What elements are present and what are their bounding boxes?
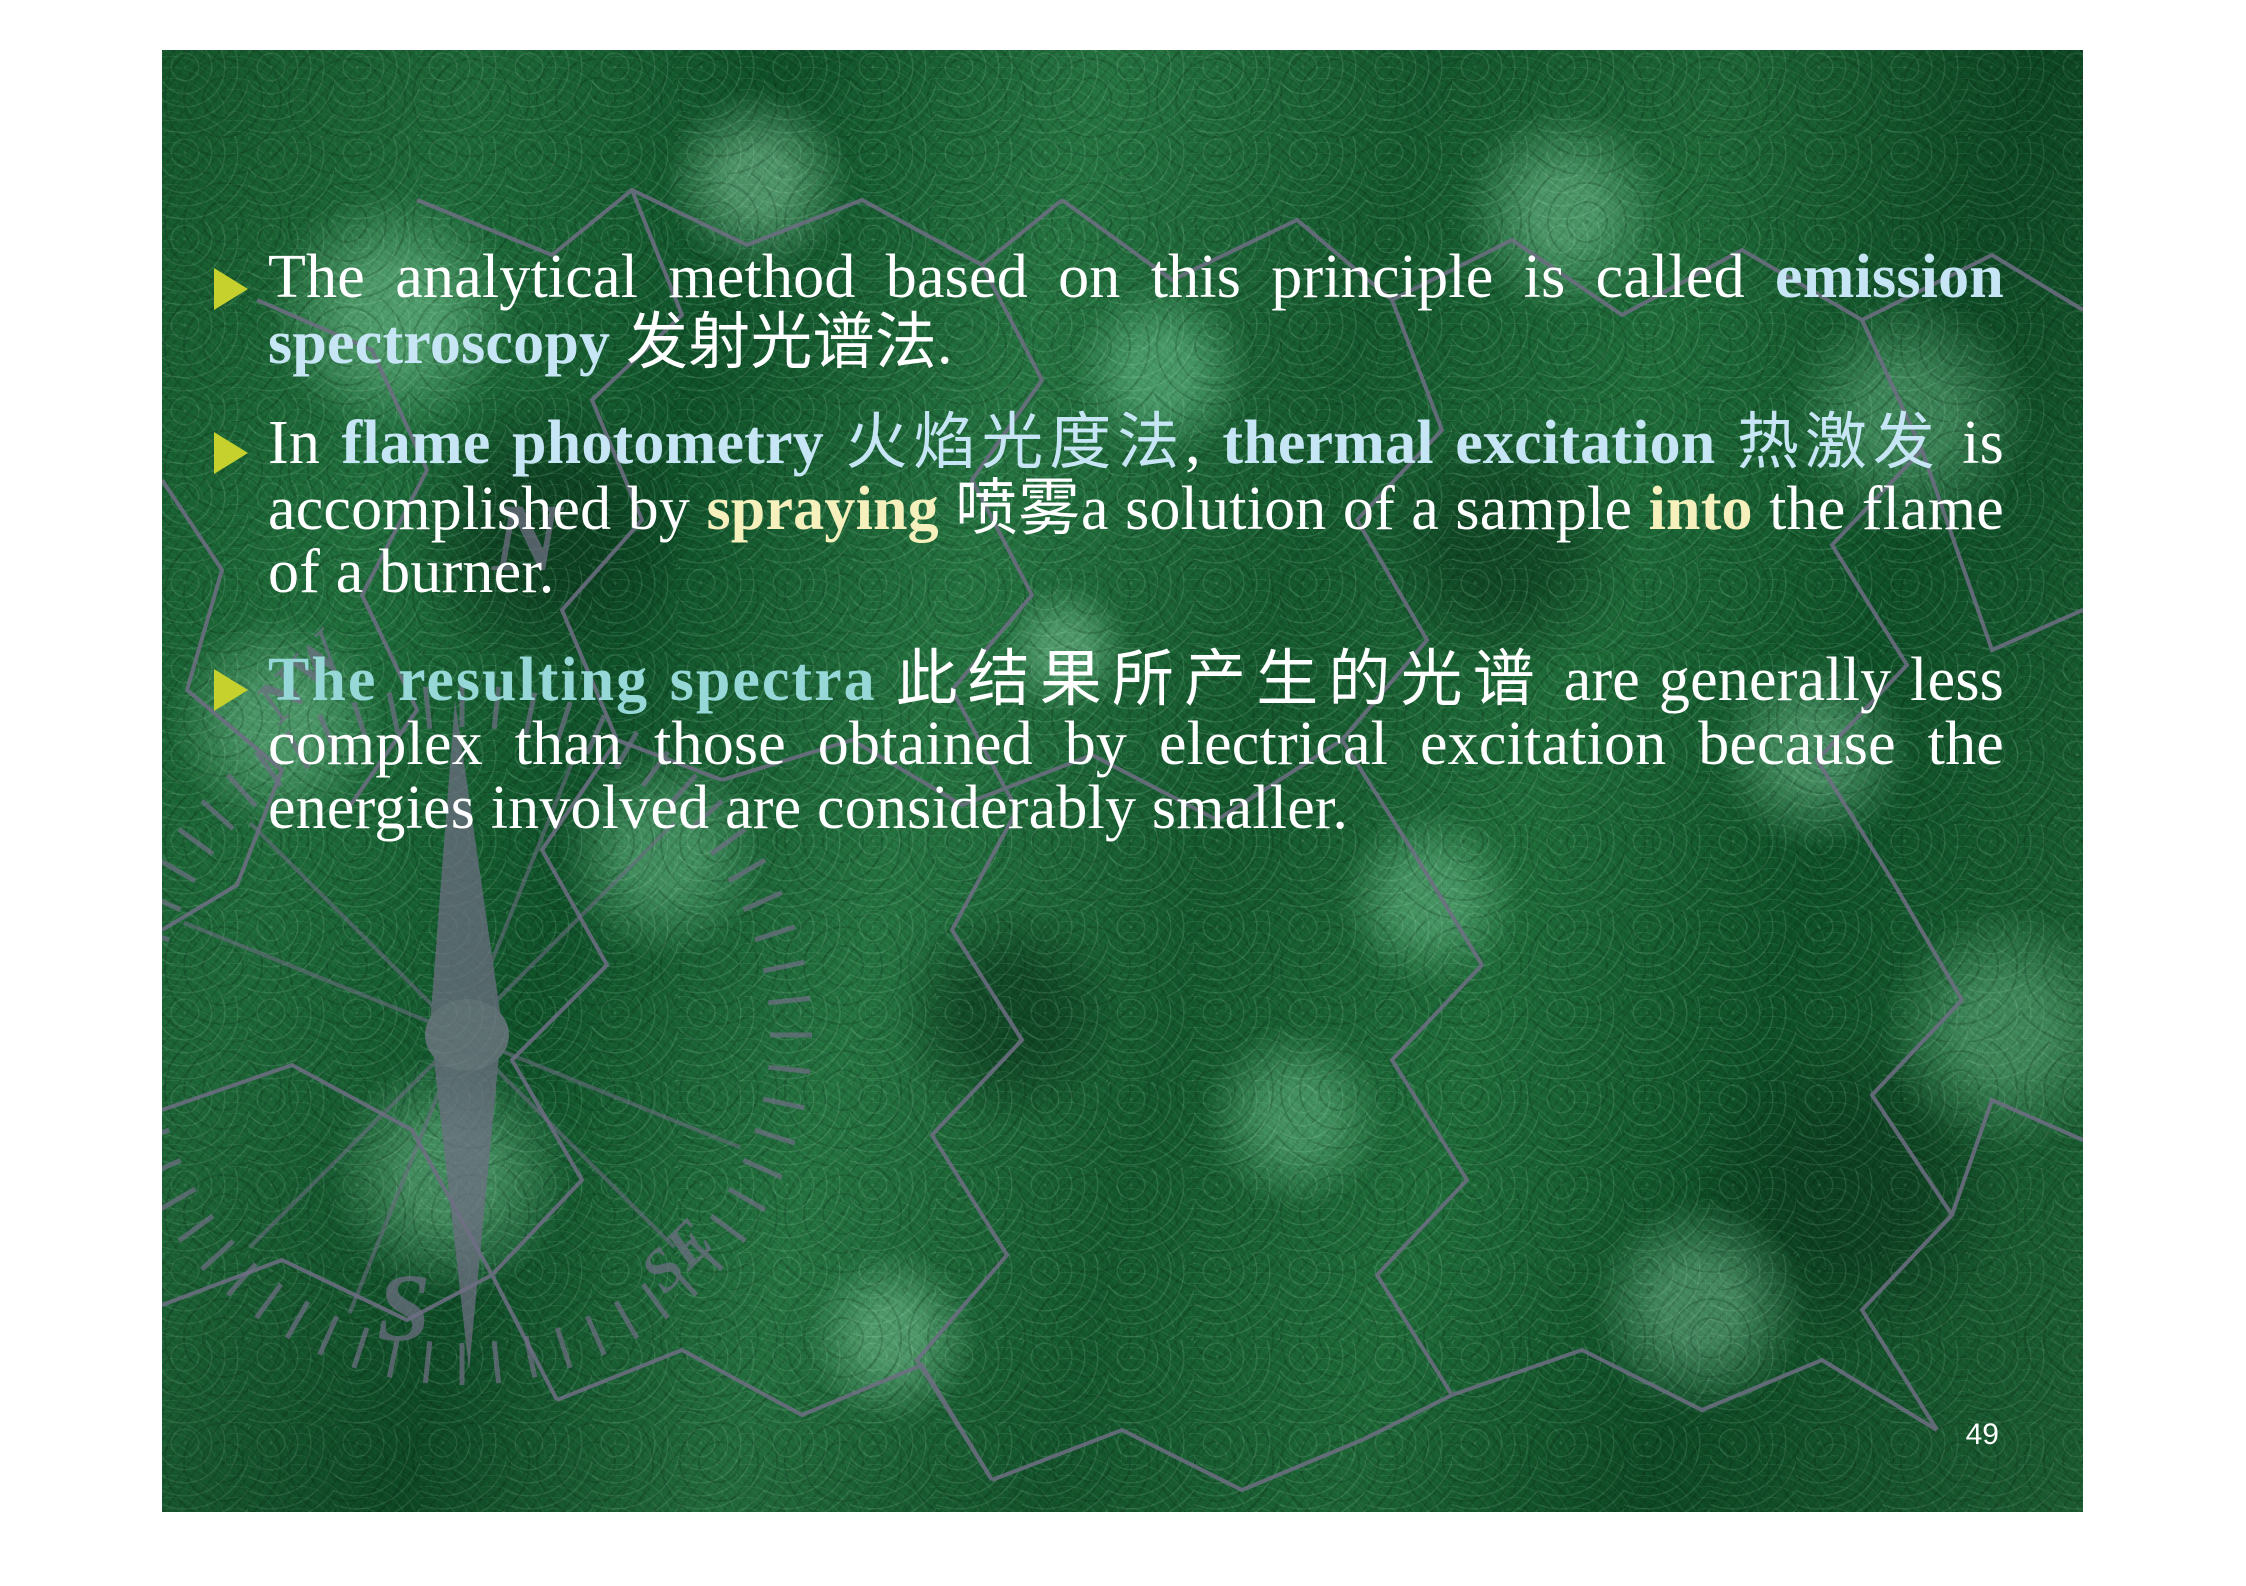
page-number: 49 <box>1966 1418 1999 1452</box>
bullet-3-line-4: considerably smaller. <box>817 774 1348 842</box>
bullet-text-1: The analytical method based on this prin… <box>268 246 2004 376</box>
slide-canvas: N S NW SE The analytical method based on… <box>162 50 2083 1512</box>
compass-label-south: S <box>377 1254 430 1361</box>
triangle-bullet-icon-3 <box>214 647 268 711</box>
triangle-bullet-icon-1 <box>214 246 268 310</box>
compass-label-southeast: SE <box>627 1206 726 1305</box>
bullet-item-3: The resulting spectra 此结果所产生的光谱 are gene… <box>214 647 2004 841</box>
bullet-text-3: The resulting spectra 此结果所产生的光谱 are gene… <box>268 647 2004 841</box>
slide-body-content: The analytical method based on this prin… <box>214 246 2004 875</box>
bullet-3-line-1: The resulting spectra 此结果所产生的光谱 are <box>268 646 1640 714</box>
bullet-item-2: In flame photometry 火焰光度法, thermal excit… <box>214 410 2004 606</box>
bullet-1-line-1: The analytical method based on this prin… <box>268 243 1745 311</box>
bullet-text-2: In flame photometry 火焰光度法, thermal excit… <box>268 410 2004 606</box>
bullet-item-1: The analytical method based on this prin… <box>214 246 2004 376</box>
bullet-2-line-1: In flame photometry 火焰光度法, thermal excit… <box>268 409 1715 477</box>
triangle-bullet-icon-2 <box>214 410 268 474</box>
